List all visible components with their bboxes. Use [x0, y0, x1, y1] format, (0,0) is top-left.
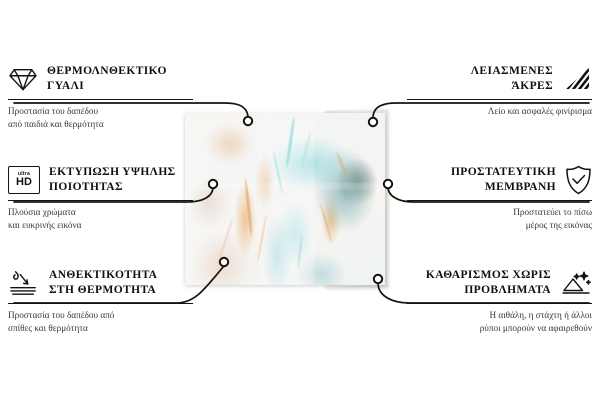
feature-title-line2: ΠΡΟΒΛΗΜΑΤΑ — [426, 283, 551, 298]
feature-title-line1: ΑΝΘΕΚΤΙΚΟΤΗΤΑ — [49, 268, 157, 283]
feature-title-line1: ΠΡΟΣΤΑΤΕΥΤΙΚΗ — [451, 165, 556, 180]
feature-desc-line2: σπίθες και θερμότητα — [8, 322, 193, 335]
ink-vein — [218, 217, 234, 261]
feature-header: ΘΕΡΜΟΛΝΘΕΚΤΙΚΟ ΓΥΑΛΙ — [8, 62, 193, 96]
feature-desc-line2: μέρος της εικόνας — [407, 219, 592, 232]
feature-high-quality-print: ultra HD ΕΚΤΥΠΩΣΗ ΥΨΗΛΗΣ ΠΟΙΟΤΗΤΑΣ Πλούσ… — [8, 163, 193, 232]
feature-heat-durability: ΑΝΘΕΚΤΙΚΟΤΗΤΑ ΣΤΗ ΘΕΡΜΟΤΗΤΑ Προστασία το… — [8, 266, 193, 335]
feature-desc-line2: από παιδιά και θερμότητα — [8, 118, 193, 131]
feature-description: Προστασία του δαπέδου από παιδιά και θερ… — [8, 105, 193, 131]
feature-divider — [407, 99, 592, 100]
feature-title: ΛΕΙΑΣΜΕΝΕΣ ΆΚΡΕΣ — [471, 64, 553, 94]
ultra-hd-icon: ultra HD — [8, 166, 40, 194]
feature-header: ΚΑΘΑΡΙΣΜΟΣ ΧΩΡΙΣ ΠΡΟΒΛΗΜΑΤΑ — [407, 266, 592, 300]
ink-vein — [285, 116, 295, 168]
feature-header: ultra HD ΕΚΤΥΠΩΣΗ ΥΨΗΛΗΣ ΠΟΙΟΤΗΤΑΣ — [8, 163, 193, 197]
feature-description: Πλούσια χρώματα και ευκρινής εικόνα — [8, 206, 193, 232]
feature-title-line1: ΘΕΡΜΟΛΝΘΕΚΤΙΚΟ — [47, 64, 167, 79]
ink-vein — [272, 151, 283, 194]
feature-desc-line1: Η αιθάλη, η στάχτη ή άλλοι — [407, 309, 592, 322]
feature-title-line2: ΣΤΗ ΘΕΡΜΟΤΗΤΑ — [49, 283, 157, 298]
feature-desc-line1: Προστασία του δαπέδου από — [8, 309, 193, 322]
ink-vein — [319, 203, 332, 244]
feature-heat-resistant-glass: ΘΕΡΜΟΛΝΘΕΚΤΙΚΟ ΓΥΑΛΙ Προστασία του δαπέδ… — [8, 62, 193, 131]
feature-desc-line2: ρύποι μπορούν να αφαιρεθούν — [407, 322, 592, 335]
feature-title: ΕΚΤΥΠΩΣΗ ΥΨΗΛΗΣ ΠΟΙΟΤΗΤΑΣ — [49, 165, 176, 195]
feature-title-line2: ΓΥΑΛΙ — [47, 79, 167, 94]
feature-title: ΘΕΡΜΟΛΝΘΕΚΤΙΚΟ ΓΥΑΛΙ — [47, 64, 167, 94]
feature-desc-line1: Προστασία του δαπέδου — [8, 105, 193, 118]
sparkle-wipe-icon — [560, 269, 592, 297]
feature-title: ΑΝΘΕΚΤΙΚΟΤΗΤΑ ΣΤΗ ΘΕΡΜΟΤΗΤΑ — [49, 268, 157, 298]
diamond-icon — [8, 66, 38, 92]
ink-vein — [244, 178, 253, 236]
infographic-canvas: ΘΕΡΜΟΛΝΘΕΚΤΙΚΟ ΓΥΑΛΙ Προστασία του δαπέδ… — [0, 0, 600, 400]
feature-desc-line2: και ευκρινής εικόνα — [8, 219, 193, 232]
feature-divider — [8, 303, 193, 304]
ink-vein — [257, 213, 268, 263]
feature-description: Προστασία του δαπέδου από σπίθες και θερ… — [8, 309, 193, 335]
feature-protective-membrane: ΠΡΟΣΤΑΤΕΥΤΙΚΗ ΜΕΜΒΡΑΝΗ Προστατεύει το πί… — [407, 163, 592, 232]
feature-title-line1: ΕΚΤΥΠΩΣΗ ΥΨΗΛΗΣ — [49, 165, 176, 180]
feature-divider — [407, 200, 592, 201]
feature-title-line2: ΠΟΙΟΤΗΤΑΣ — [49, 180, 176, 195]
product-image — [185, 113, 385, 285]
ink-vein — [335, 151, 349, 180]
ink-vein — [300, 131, 312, 170]
feature-divider — [8, 200, 193, 201]
feature-header: ΑΝΘΕΚΤΙΚΟΤΗΤΑ ΣΤΗ ΘΕΡΜΟΤΗΤΑ — [8, 266, 193, 300]
glass-reflection — [185, 113, 385, 285]
feature-header: ΛΕΙΑΣΜΕΝΕΣ ΆΚΡΕΣ — [407, 62, 592, 96]
ink-vein — [297, 233, 303, 271]
feature-title-line2: ΜΕΜΒΡΑΝΗ — [451, 180, 556, 195]
feature-desc-line1: Προστατεύει το πίσω — [407, 206, 592, 219]
glass-art-panel — [185, 113, 385, 285]
feature-title-line2: ΆΚΡΕΣ — [471, 79, 553, 94]
feature-title-line1: ΚΑΘΑΡΙΣΜΟΣ ΧΩΡΙΣ — [426, 268, 551, 283]
feature-description: Η αιθάλη, η στάχτη ή άλλοι ρύποι μπορούν… — [407, 309, 592, 335]
feature-divider — [407, 303, 592, 304]
feature-title: ΠΡΟΣΤΑΤΕΥΤΙΚΗ ΜΕΜΒΡΑΝΗ — [451, 165, 556, 195]
hatched-triangle-icon — [562, 66, 592, 92]
feature-easy-cleaning: ΚΑΘΑΡΙΣΜΟΣ ΧΩΡΙΣ ΠΡΟΒΛΗΜΑΤΑ Η αιθάλη, η … — [407, 266, 592, 335]
feature-description: Προστατεύει το πίσω μέρος της εικόνας — [407, 206, 592, 232]
feature-title-line1: ΛΕΙΑΣΜΕΝΕΣ — [471, 64, 553, 79]
feature-title: ΚΑΘΑΡΙΣΜΟΣ ΧΩΡΙΣ ΠΡΟΒΛΗΜΑΤΑ — [426, 268, 551, 298]
feature-desc-line1: Πλούσια χρώματα — [8, 206, 193, 219]
shield-check-icon — [565, 165, 592, 195]
ultra-hd-badge-bottom: HD — [16, 177, 32, 188]
feature-polished-edges: ΛΕΙΑΣΜΕΝΕΣ ΆΚΡΕΣ Λείο και ασφαλές φινίρι… — [407, 62, 592, 118]
feature-desc-line1: Λείο και ασφαλές φινίρισμα — [407, 105, 592, 118]
feature-divider — [8, 99, 193, 100]
feature-description: Λείο και ασφαλές φινίρισμα — [407, 105, 592, 118]
flame-arrow-icon — [8, 269, 40, 297]
feature-header: ΠΡΟΣΤΑΤΕΥΤΙΚΗ ΜΕΜΒΡΑΝΗ — [407, 163, 592, 197]
